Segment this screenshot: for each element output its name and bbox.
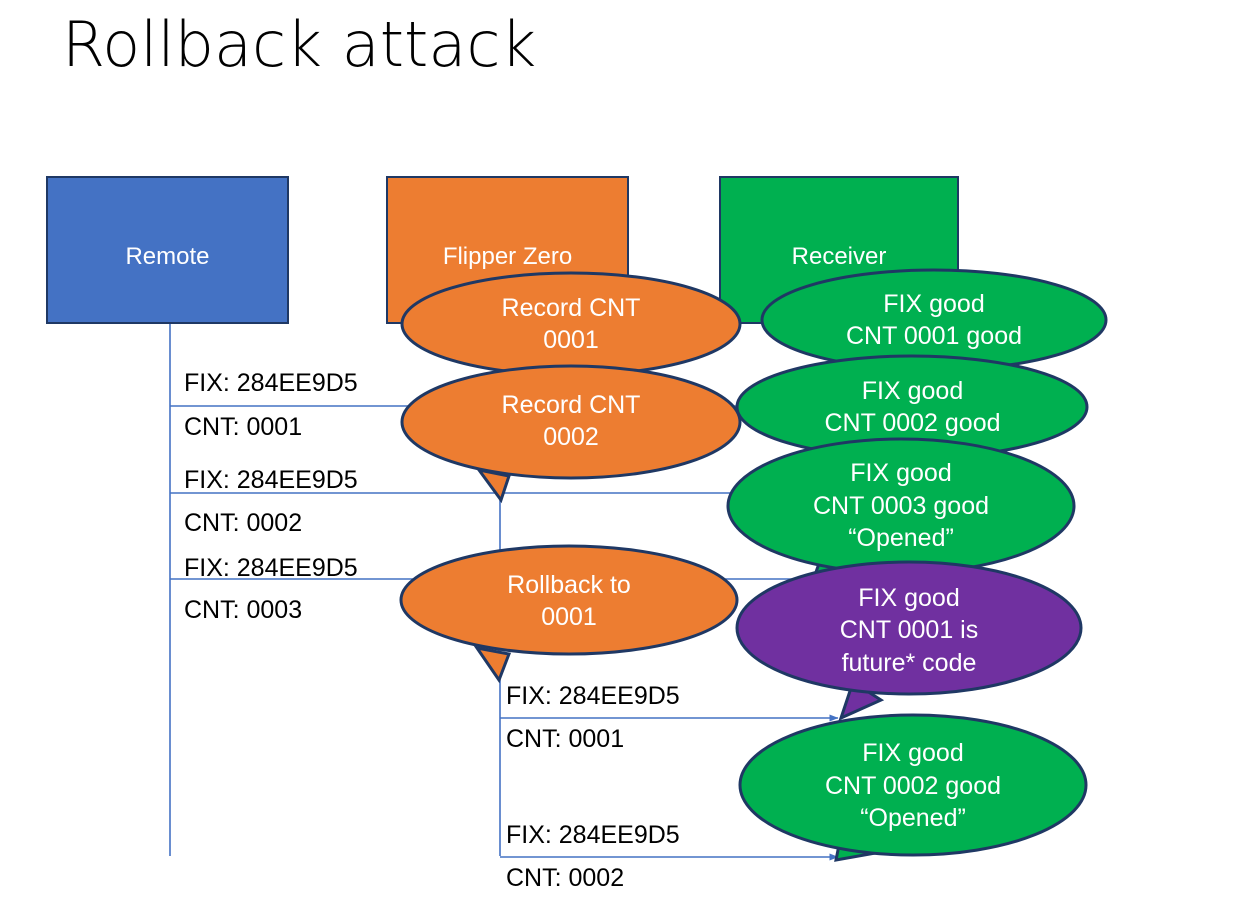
actor-box-remote[interactable]: Remote — [46, 176, 289, 324]
callout-text: FIX good CNT 0003 good “Opened” — [726, 457, 1076, 555]
callout-text: FIX good CNT 0002 good — [735, 375, 1090, 440]
callout-line: FIX good — [753, 375, 1072, 408]
message-1-cnt: CNT: 0001 — [184, 415, 302, 440]
callout-line: CNT 0002 good — [753, 407, 1072, 440]
callout-text: Record CNT 0002 — [401, 389, 741, 454]
message-4-fix: FIX: 284EE9D5 — [506, 684, 680, 709]
message-3-fix: FIX: 284EE9D5 — [184, 556, 358, 581]
callout-line: Record CNT — [419, 389, 723, 422]
callout-line: “Opened” — [756, 802, 1070, 835]
callout-line: Record CNT — [419, 292, 723, 325]
callout-text: Rollback to 0001 — [399, 569, 739, 634]
callout-line: CNT 0003 good — [744, 490, 1058, 523]
message-4-cnt: CNT: 0001 — [506, 727, 624, 752]
callout-line: “Opened” — [744, 522, 1058, 555]
callout-line: CNT 0001 is — [753, 614, 1065, 647]
callout-receiver-future-code[interactable]: FIX good CNT 0001 is future* code — [735, 560, 1083, 725]
callout-line: 0001 — [419, 324, 723, 357]
callout-line: FIX good — [753, 582, 1065, 615]
callout-text: FIX good CNT 0001 good — [760, 288, 1108, 353]
callout-line: FIX good — [778, 288, 1090, 321]
callout-line: CNT 0002 good — [756, 770, 1070, 803]
callout-flipper-record-0001[interactable]: Record CNT 0001 — [401, 272, 741, 376]
callout-line: FIX good — [744, 457, 1058, 490]
callout-line: FIX good — [756, 737, 1070, 770]
actor-label-remote: Remote — [125, 244, 209, 316]
callout-flipper-record-0002[interactable]: Record CNT 0002 — [401, 364, 741, 504]
callout-receiver-ok-0002-second[interactable]: FIX good CNT 0002 good “Opened” — [738, 712, 1088, 882]
callout-line: future* code — [753, 647, 1065, 680]
callout-line: CNT 0001 good — [778, 320, 1090, 353]
callout-line: 0001 — [417, 601, 721, 634]
callout-text: Record CNT 0001 — [401, 292, 741, 357]
message-5-cnt: CNT: 0002 — [506, 866, 624, 891]
callout-text: FIX good CNT 0002 good “Opened” — [738, 737, 1088, 835]
message-2-cnt: CNT: 0002 — [184, 511, 302, 536]
message-1-fix: FIX: 284EE9D5 — [184, 371, 358, 396]
callout-line: Rollback to — [417, 569, 721, 602]
message-5-fix: FIX: 284EE9D5 — [506, 823, 680, 848]
callout-flipper-rollback[interactable]: Rollback to 0001 — [399, 544, 739, 684]
callout-line: 0002 — [419, 421, 723, 454]
message-2-fix: FIX: 284EE9D5 — [184, 468, 358, 493]
callout-text: FIX good CNT 0001 is future* code — [735, 582, 1083, 680]
message-3-cnt: CNT: 0003 — [184, 598, 302, 623]
slide-canvas: Rollback attack Remote Flipper Zero Rece… — [0, 0, 1233, 898]
